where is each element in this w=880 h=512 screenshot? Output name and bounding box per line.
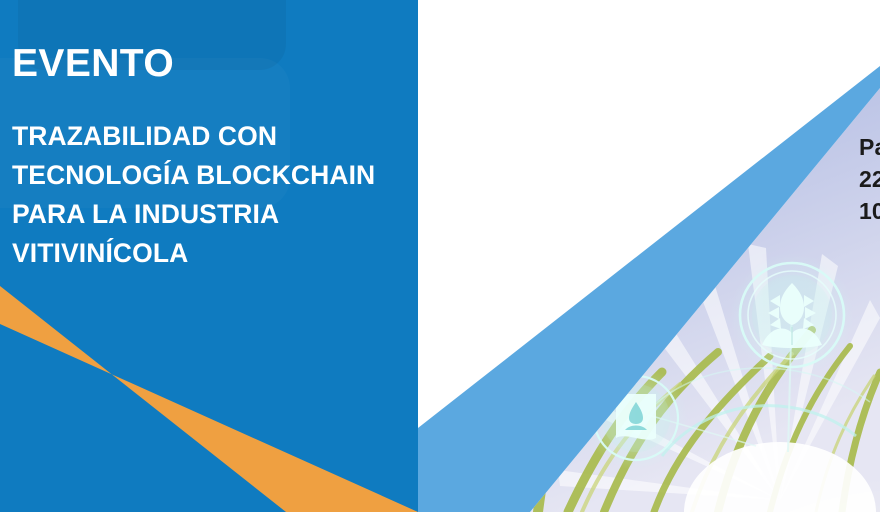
left-blue-panel: EVENTO TRAZABILIDAD CON TECNOLOGÍA BLOCK… [0, 0, 418, 512]
event-details: Parque TIC Mendoza 22 de Noviembre 2023 … [859, 131, 880, 227]
right-content-area: Parque TIC Mendoza 22 de Noviembre 2023 … [418, 0, 880, 512]
event-headline: TRAZABILIDAD CON TECNOLOGÍA BLOCKCHAIN P… [12, 117, 416, 273]
headline-line-1: TRAZABILIDAD CON [12, 117, 416, 156]
headline-line-2: TECNOLOGÍA BLOCKCHAIN [12, 156, 416, 195]
event-kicker: EVENTO [12, 44, 174, 83]
details-line-date: 22 de Noviembre 2023 [859, 163, 880, 195]
event-banner: EVENTO TRAZABILIDAD CON TECNOLOGÍA BLOCK… [0, 0, 880, 512]
headline-line-4: VITIVINÍCOLA [12, 234, 416, 273]
headline-line-3: PARA LA INDUSTRIA [12, 195, 416, 234]
details-line-venue: Parque TIC Mendoza [859, 131, 880, 163]
diagonal-blue-band [418, 0, 880, 512]
details-line-time: 10:30 Hs a 12:30 Hs [859, 195, 880, 227]
